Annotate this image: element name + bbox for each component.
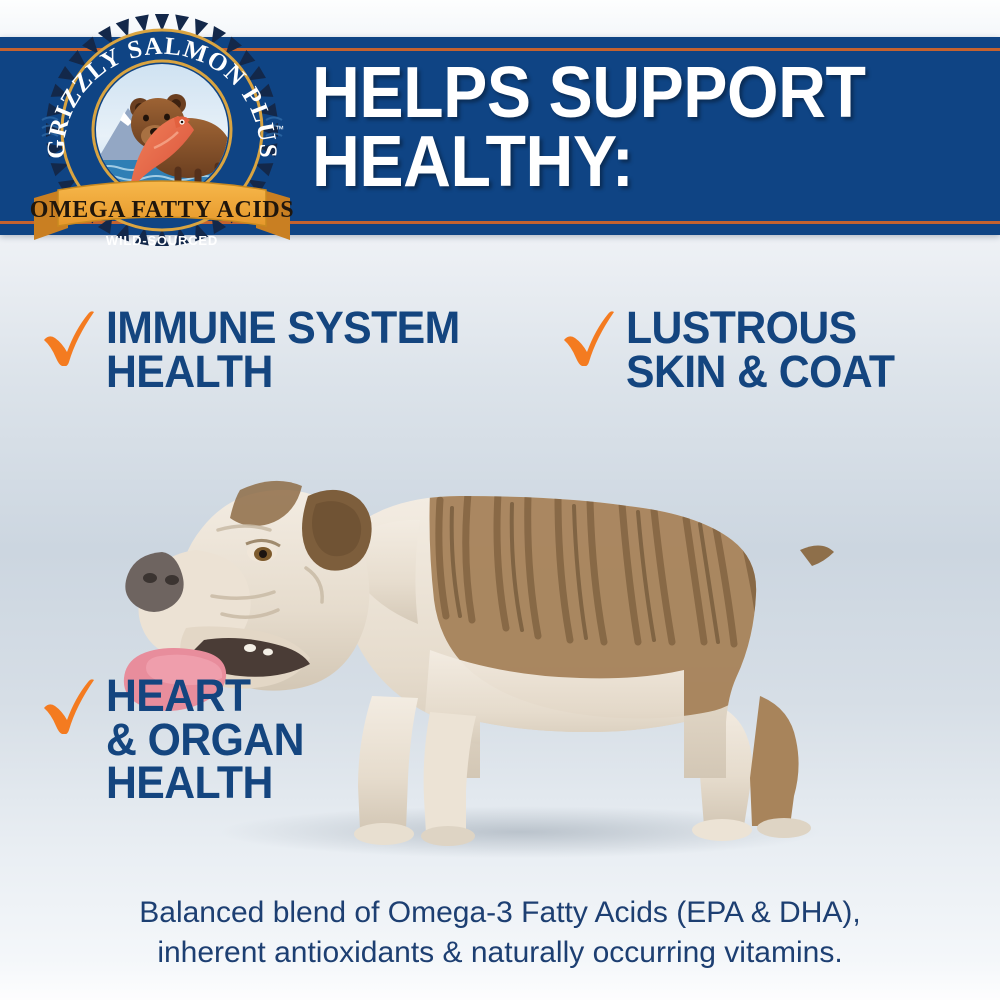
benefit-item-lustrous-skin-and-coat: LUSTROUS SKIN & COAT [558,300,909,393]
dog-tail [800,545,834,566]
hero-dog-image [100,400,890,890]
logo-ribbon-text: OMEGA FATTY ACIDS [30,197,294,223]
brand-logo: GRIZZLY SALMON PLUS ™ OMEGA FATTY ACIDS … [28,12,296,252]
orange-checkmark-icon [38,672,100,734]
benefit-label: LUSTROUS SKIN & COAT [626,300,894,393]
brand-logo-svg: GRIZZLY SALMON PLUS ™ OMEGA FATTY ACIDS … [28,12,296,252]
bulldog-illustration [100,400,890,890]
orange-checkmark-icon [558,304,620,366]
benefit-item-heart-and-organ-health: HEART & ORGAN HEALTH [38,668,314,805]
logo-sub-ribbon-text: WILD-SOURCED [106,233,218,248]
logo-trademark: ™ [275,124,284,134]
page-title: HELPS SUPPORT HEALTHY: [312,59,919,197]
benefit-label: HEART & ORGAN HEALTH [106,668,304,805]
benefit-item-immune-system-health: IMMUNE SYSTEM HEALTH [38,300,478,393]
product-benefit-poster: HELPS SUPPORT HEALTHY: [0,0,1000,1000]
product-caption: Balanced blend of Omega-3 Fatty Acids (E… [0,893,1000,972]
orange-checkmark-icon [38,304,100,366]
benefit-label: IMMUNE SYSTEM HEALTH [106,300,460,393]
